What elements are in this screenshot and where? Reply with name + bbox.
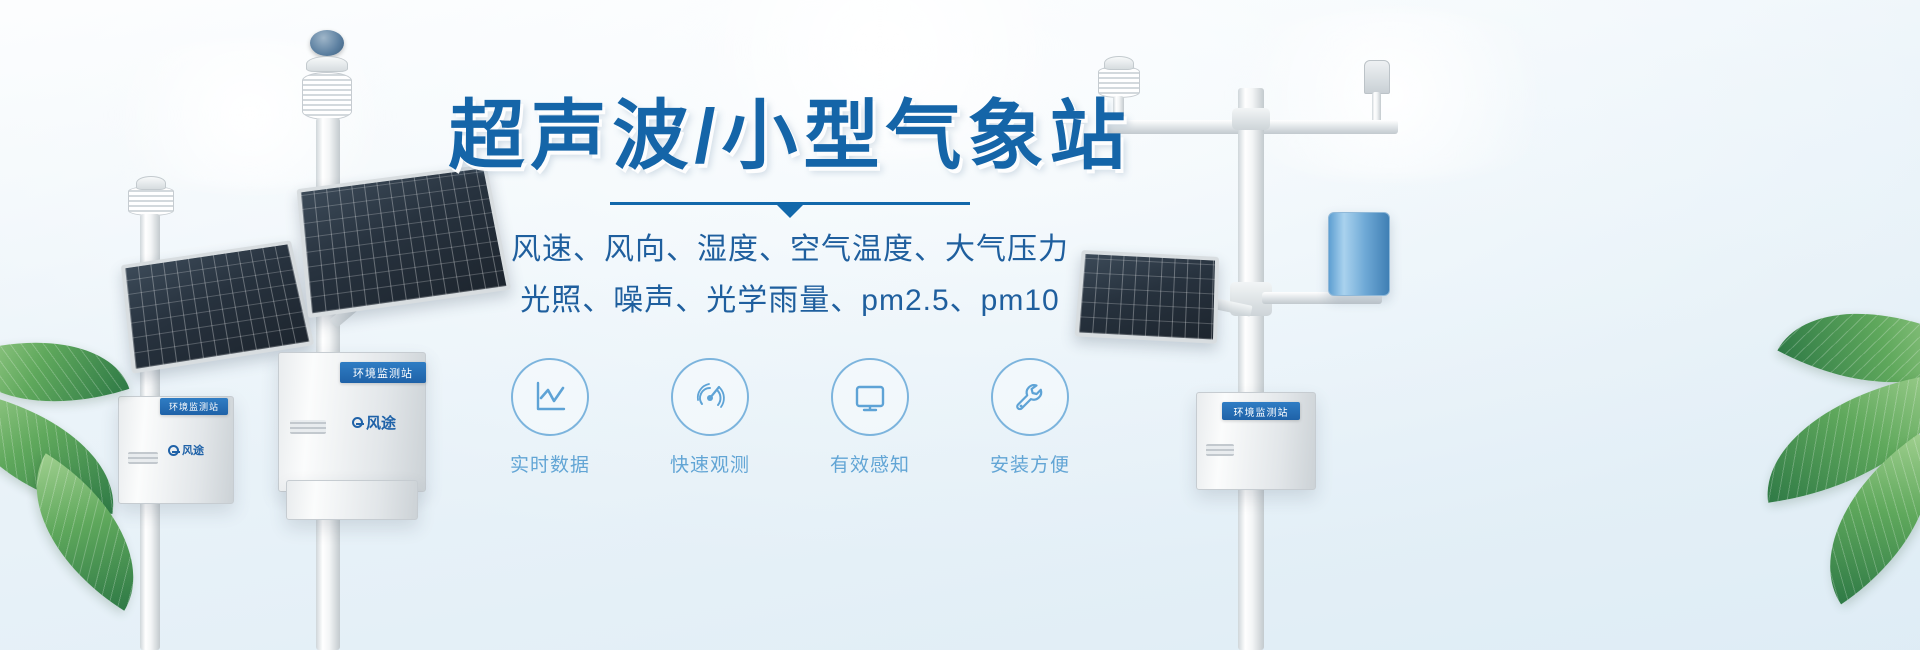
brand-glyph-icon xyxy=(352,417,363,428)
sensor-cap-icon xyxy=(1104,56,1134,70)
brand-logo-middle: 风途 xyxy=(352,412,396,433)
feature-circle xyxy=(991,358,1069,436)
monitor-screen-icon xyxy=(849,376,891,418)
feature-list: 实时数据 快速观测 xyxy=(430,358,1150,477)
brand-logo-left: 风途 xyxy=(168,442,204,458)
cabinet-base xyxy=(286,480,418,520)
ultrasonic-anemometer-icon xyxy=(1364,60,1390,94)
feature-circle xyxy=(671,358,749,436)
sensor-cap-icon xyxy=(306,56,348,72)
title-divider xyxy=(610,202,970,205)
feature-label: 安装方便 xyxy=(976,450,1084,477)
banner-content: 超声波/小型气象站 风速、风向、湿度、空气温度、大气压力 光照、噪声、光学雨量、… xyxy=(430,96,1150,477)
subtitle-line-1: 风速、风向、湿度、空气温度、大气压力 xyxy=(430,227,1150,274)
feature-label: 有效感知 xyxy=(816,450,924,477)
lightning-dome-icon xyxy=(310,30,344,56)
cabinet-vent xyxy=(128,452,158,464)
station-plate-right: 环境监测站 xyxy=(1222,402,1300,420)
feature-item-effective-sensing[interactable]: 有效感知 xyxy=(816,358,924,477)
cloud-decor xyxy=(60,40,440,190)
brand-name-middle: 风途 xyxy=(366,412,396,433)
radiation-shield-icon xyxy=(302,72,352,120)
feature-item-easy-installation[interactable]: 安装方便 xyxy=(976,358,1084,477)
line-chart-icon xyxy=(529,376,571,418)
page-title: 超声波/小型气象站 xyxy=(430,96,1150,178)
brand-name-left: 风途 xyxy=(182,442,204,458)
radiation-shield-icon xyxy=(128,186,174,216)
feature-label: 快速观测 xyxy=(656,450,764,477)
radar-scan-icon xyxy=(689,376,731,418)
wrench-icon xyxy=(1009,376,1051,418)
station-plate-middle: 环境监测站 xyxy=(340,362,426,383)
feature-circle xyxy=(511,358,589,436)
feature-label: 实时数据 xyxy=(496,450,604,477)
feature-item-realtime-data[interactable]: 实时数据 xyxy=(496,358,604,477)
mast-pole xyxy=(1238,88,1264,650)
station-plate-left: 环境监测站 xyxy=(160,398,228,415)
mast-collar xyxy=(1232,108,1270,130)
optical-rain-gauge xyxy=(1328,212,1390,296)
product-banner: 环境监测站 风途 环境监测站 风途 xyxy=(0,0,1920,650)
sensor-cap-icon xyxy=(136,176,166,190)
subtitle-line-2: 光照、噪声、光学雨量、pm2.5、pm10 xyxy=(430,278,1150,325)
cabinet-vent xyxy=(1206,444,1234,456)
feature-circle xyxy=(831,358,909,436)
brand-glyph-icon xyxy=(168,445,179,456)
feature-item-fast-observation[interactable]: 快速观测 xyxy=(656,358,764,477)
cabinet-vent xyxy=(290,420,326,434)
